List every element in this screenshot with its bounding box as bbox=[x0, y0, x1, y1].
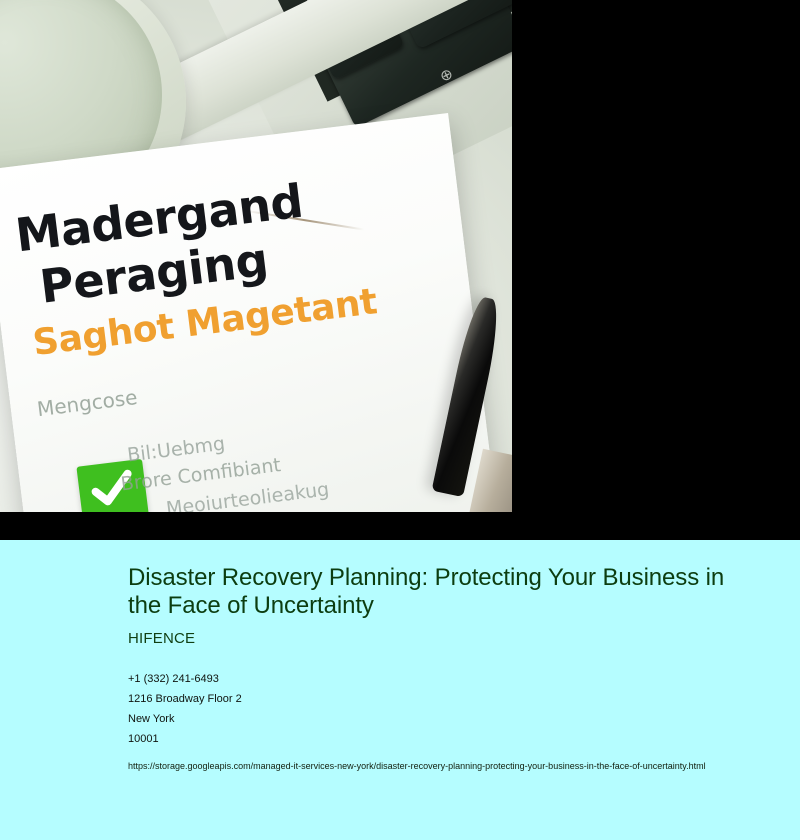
contact-street: 1216 Broadway Floor 2 bbox=[128, 689, 790, 709]
brand-name: HIFENCE bbox=[128, 630, 790, 647]
contact-city: New York bbox=[128, 709, 790, 729]
page-root: A ⊕ ⇧ Madergand Peraging Saghot Magetant… bbox=[0, 0, 800, 840]
document-caption: Mengcose bbox=[36, 385, 139, 421]
contact-block: +1 (332) 241-6493 1216 Broadway Floor 2 … bbox=[128, 669, 790, 749]
contact-phone[interactable]: +1 (332) 241-6493 bbox=[128, 669, 790, 689]
page-title: Disaster Recovery Planning: Protecting Y… bbox=[128, 564, 728, 620]
content-inner: Disaster Recovery Planning: Protecting Y… bbox=[0, 540, 800, 777]
hero-photo-canvas: A ⊕ ⇧ Madergand Peraging Saghot Magetant… bbox=[0, 0, 512, 512]
hero-image: A ⊕ ⇧ Madergand Peraging Saghot Magetant… bbox=[0, 0, 512, 512]
content-panel: Disaster Recovery Planning: Protecting Y… bbox=[0, 540, 800, 840]
paper-document: Madergand Peraging Saghot Magetant Mengc… bbox=[0, 113, 500, 512]
contact-zip: 10001 bbox=[128, 729, 790, 749]
source-url-link[interactable]: https://storage.googleapis.com/managed-i… bbox=[128, 755, 790, 777]
